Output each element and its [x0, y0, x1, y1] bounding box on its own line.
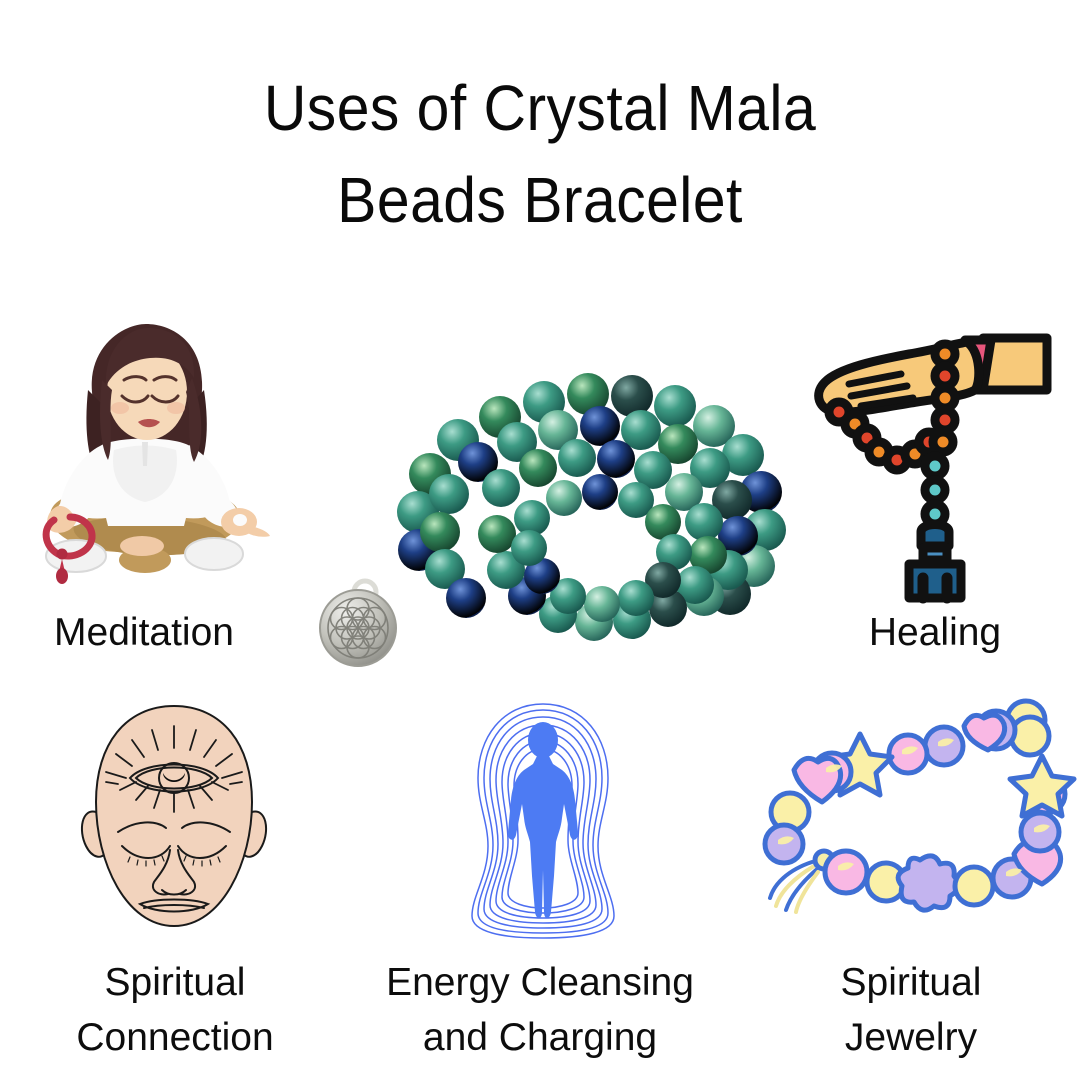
infographic-canvas: Uses of Crystal Mala Beads Bracelet	[0, 0, 1080, 1080]
hand-with-prayer-beads-icon	[805, 320, 1065, 600]
item-label-spiritual-connection: Spiritual Connection	[44, 955, 306, 1065]
item-meditation: Meditation	[14, 320, 274, 680]
pastel-beaded-bracelet-icon	[768, 720, 1058, 930]
page-title-line-2: Beads Bracelet	[43, 154, 1037, 246]
item-label-healing: Healing	[805, 605, 1065, 660]
mala-bracelet-photo	[318, 322, 818, 682]
mala-bracelet-illustration	[318, 322, 818, 672]
flower-of-life-charm	[320, 581, 396, 666]
third-eye-face-icon	[44, 700, 306, 940]
meditating-woman-icon	[14, 320, 274, 600]
item-label-energy-cleansing: Energy Cleansing and Charging	[372, 955, 708, 1065]
item-spiritual-jewelry: Spiritual Jewelry	[768, 700, 1054, 1070]
item-energy-cleansing: Energy Cleansing and Charging	[372, 700, 708, 1070]
page-title-line-1: Uses of Crystal Mala	[43, 62, 1037, 154]
item-label-spiritual-jewelry: Spiritual Jewelry	[768, 955, 1054, 1065]
item-label-meditation: Meditation	[14, 605, 274, 660]
item-healing: Healing	[805, 320, 1065, 680]
aura-body-icon	[458, 700, 628, 940]
page-title: Uses of Crystal Mala Beads Bracelet	[0, 62, 1080, 246]
item-spiritual-connection: Spiritual Connection	[44, 700, 306, 1070]
